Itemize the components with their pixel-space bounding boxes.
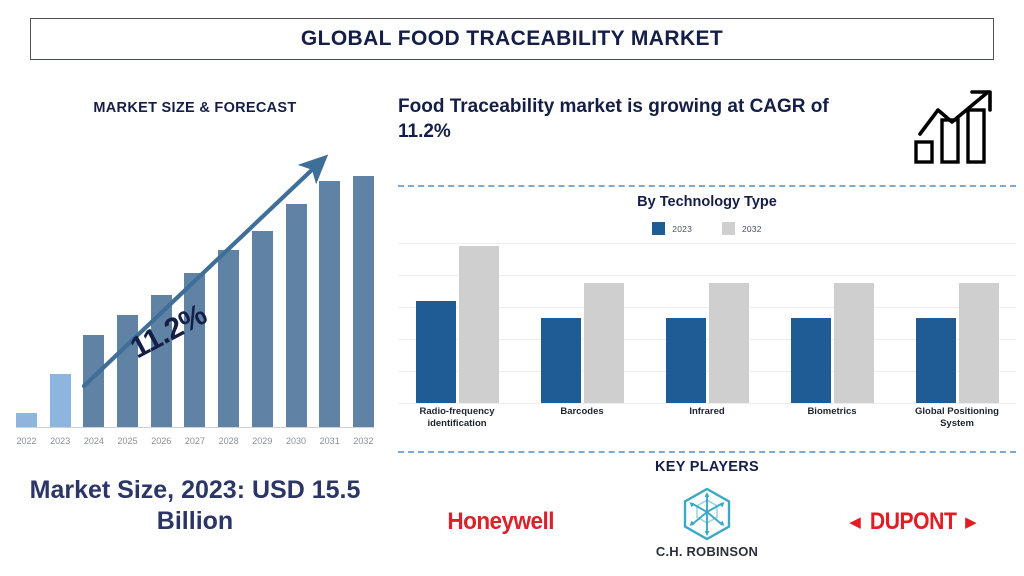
legend-label: 2023 — [672, 224, 692, 234]
technology-panel: Food Traceability market is growing at C… — [390, 80, 1024, 576]
left-chart-x-label: 2030 — [286, 436, 307, 446]
page-title: GLOBAL FOOD TRACEABILITY MARKET — [301, 27, 723, 51]
bar-group — [648, 243, 766, 403]
page-title-box: GLOBAL FOOD TRACEABILITY MARKET — [30, 18, 994, 60]
key-player-ch-robinson: C.H. ROBINSON — [612, 486, 802, 559]
left-chart-bars — [16, 159, 374, 427]
legend-label: 2032 — [742, 224, 762, 234]
legend-swatch — [652, 222, 665, 235]
cagr-headline: Food Traceability market is growing at C… — [398, 94, 868, 144]
technology-chart-legend: 20232032 — [398, 222, 1016, 235]
dupont-left-arrow-icon: ◀ — [849, 515, 861, 530]
bar-group — [398, 243, 516, 403]
left-chart-x-label: 2024 — [83, 436, 104, 446]
market-size-bar-chart: 2022202320242025202620272028202920302031… — [16, 140, 374, 450]
technology-chart-bars — [398, 243, 1016, 403]
left-chart-bar — [286, 204, 307, 427]
technology-bar-2023 — [791, 318, 831, 403]
ch-robinson-logo — [679, 486, 735, 542]
bar-group — [523, 243, 641, 403]
legend-item: 2032 — [722, 222, 762, 235]
divider-top — [398, 185, 1016, 187]
technology-category-label: Barcodes — [523, 406, 641, 418]
left-chart-x-label: 2028 — [218, 436, 239, 446]
ch-robinson-label: C.H. ROBINSON — [656, 544, 758, 559]
market-size-caption: Market Size, 2023: USD 15.5 Billion — [10, 475, 380, 536]
technology-category-label: Infrared — [648, 406, 766, 418]
technology-bar-2032 — [834, 283, 874, 403]
left-chart-x-label: 2022 — [16, 436, 37, 446]
technology-bar-2032 — [959, 283, 999, 403]
gridline — [398, 403, 1016, 404]
technology-section-title: By Technology Type — [398, 194, 1016, 210]
left-chart-bar — [218, 250, 239, 427]
left-chart-x-label: 2032 — [353, 436, 374, 446]
left-chart-axis-line — [16, 427, 374, 428]
bar-chart-growth-icon — [910, 88, 1006, 166]
left-chart-x-label: 2025 — [117, 436, 138, 446]
key-players-list: Honeywell — [398, 486, 1016, 572]
dupont-logo: ◀ DUPONT ▶ — [849, 508, 976, 536]
technology-category-label: Global Positioning System — [898, 406, 1016, 430]
dupont-wordmark: DUPONT — [870, 508, 957, 536]
technology-bar-2023 — [666, 318, 706, 403]
bar-group — [773, 243, 891, 403]
left-chart-bar — [353, 176, 374, 427]
left-chart-bar — [184, 273, 205, 427]
technology-bar-2032 — [584, 283, 624, 403]
technology-bar-chart: Radio-frequency identificationBarcodesIn… — [398, 243, 1016, 433]
left-chart-x-label: 2027 — [184, 436, 205, 446]
legend-item: 2023 — [652, 222, 692, 235]
left-chart-bar — [50, 374, 71, 427]
key-player-honeywell: Honeywell — [406, 486, 596, 536]
key-player-dupont: ◀ DUPONT ▶ — [818, 486, 1008, 536]
technology-bar-2023 — [916, 318, 956, 403]
left-chart-x-label: 2023 — [50, 436, 71, 446]
market-size-forecast-panel: MARKET SIZE & FORECAST 20222023202420252… — [0, 80, 390, 576]
infographic-page: GLOBAL FOOD TRACEABILITY MARKET MARKET S… — [0, 0, 1024, 576]
left-chart-bar — [16, 413, 37, 427]
technology-bar-2023 — [541, 318, 581, 403]
key-players-title: KEY PLAYERS — [398, 459, 1016, 475]
left-chart-x-labels: 2022202320242025202620272028202920302031… — [16, 432, 374, 450]
left-panel-heading: MARKET SIZE & FORECAST — [0, 100, 390, 116]
honeywell-logo: Honeywell — [448, 508, 555, 536]
divider-bottom — [398, 451, 1016, 453]
dupont-right-arrow-icon: ▶ — [965, 515, 977, 530]
technology-bar-2032 — [709, 283, 749, 403]
technology-bar-2032 — [459, 246, 499, 403]
left-chart-x-label: 2029 — [252, 436, 273, 446]
technology-chart-categories: Radio-frequency identificationBarcodesIn… — [398, 406, 1016, 430]
left-chart-x-label: 2026 — [151, 436, 172, 446]
bar-group — [898, 243, 1016, 403]
technology-category-label: Radio-frequency identification — [398, 406, 516, 430]
legend-swatch — [722, 222, 735, 235]
left-chart-bar — [252, 231, 273, 427]
technology-bar-2023 — [416, 301, 456, 403]
left-chart-x-label: 2031 — [319, 436, 340, 446]
technology-category-label: Biometrics — [773, 406, 891, 418]
left-chart-bar — [319, 181, 340, 427]
left-chart-bar — [83, 335, 104, 427]
